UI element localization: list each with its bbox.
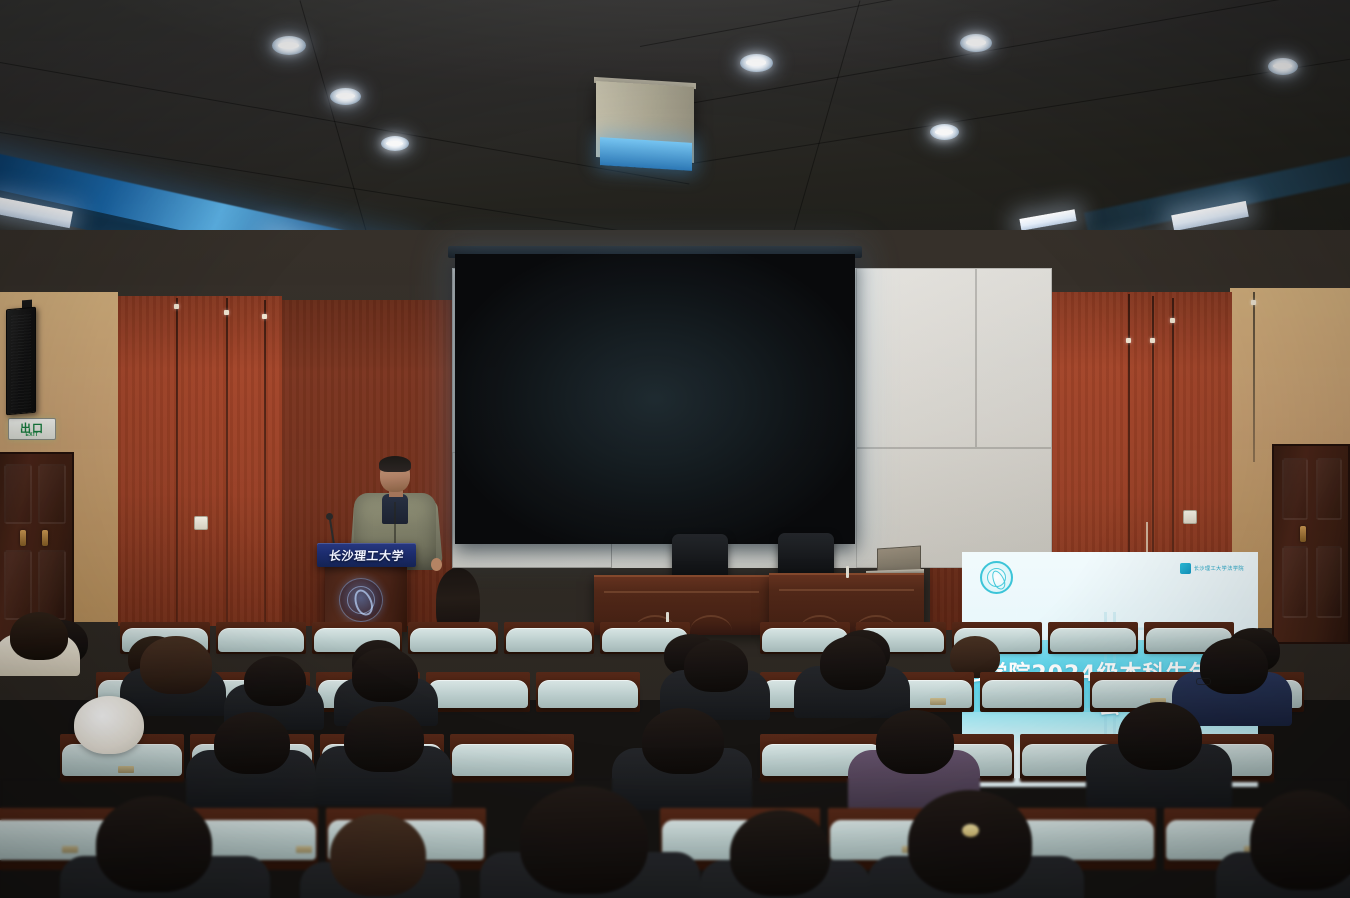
audience-head — [140, 636, 212, 694]
auditorium-seat — [452, 744, 572, 776]
hair-scrunchie — [962, 824, 979, 837]
slide-corner-logo: 长沙理工大学法学院 — [1180, 563, 1244, 574]
podium-nameplate-text: 长沙理工大学 — [328, 547, 405, 564]
audience-head — [214, 712, 290, 774]
projector-lens-glow — [600, 137, 692, 171]
projection-screen: 长沙理工大学法学院 法学院2024级本科生年级大会 2025年3月13日 — [455, 254, 855, 544]
ceiling-downlight — [960, 34, 992, 52]
audience-head — [642, 708, 724, 774]
exit-sign-sublabel: EXIT — [9, 433, 55, 438]
auditorium-seat — [982, 680, 1082, 708]
university-seal-logo — [980, 561, 1013, 594]
podium-microphone-head — [326, 513, 333, 520]
audience-head — [244, 656, 306, 706]
stage-chair — [672, 534, 728, 578]
auditorium-seat — [410, 628, 496, 652]
audience-head — [730, 810, 830, 896]
ceiling-downlight — [1268, 58, 1298, 75]
audience-head — [1118, 702, 1202, 770]
stage-chair — [778, 533, 834, 578]
audience-head — [820, 636, 886, 690]
ceiling-downlight — [930, 124, 959, 140]
audience-head — [330, 814, 426, 896]
auditorium-seat — [1050, 628, 1136, 652]
audience-head — [344, 706, 424, 772]
audience-seating-area — [0, 600, 1350, 898]
ceiling-downlight — [381, 136, 409, 151]
audience-head — [876, 710, 954, 774]
exit-sign: 出口 EXIT — [8, 418, 56, 440]
audience-head — [684, 640, 748, 692]
audience-head — [96, 796, 212, 892]
auditorium-seat — [428, 680, 528, 708]
audience-white-hat — [74, 696, 144, 754]
desk-microphone — [846, 566, 849, 578]
auditorium-photo: 出口 EXIT 长沙理工大学法学院 法学院2024级本科生年级大会 2025年3… — [0, 0, 1350, 898]
audience-head — [520, 786, 648, 894]
wall-power-outlet — [194, 516, 208, 530]
wood-panel-left — [118, 296, 282, 626]
corner-logo-text: 长沙理工大学法学院 — [1194, 565, 1244, 572]
auditorium-seat — [538, 680, 638, 708]
audience-head — [1250, 790, 1350, 890]
ceiling-downlight — [330, 88, 361, 105]
auditorium-seat — [218, 628, 304, 652]
presenter-hair — [379, 456, 411, 472]
audience-head — [908, 790, 1032, 894]
ceiling-downlight — [272, 36, 306, 55]
corner-logo-mark — [1180, 563, 1191, 574]
audience-head — [352, 648, 418, 702]
eyeglasses — [1196, 678, 1211, 685]
auditorium-seat — [506, 628, 592, 652]
audience-head — [10, 612, 68, 660]
wall-mounted-loudspeaker — [6, 307, 36, 416]
audience-head — [1200, 638, 1268, 694]
ceiling-downlight — [740, 54, 773, 72]
podium-nameplate: 长沙理工大学 — [317, 543, 416, 567]
